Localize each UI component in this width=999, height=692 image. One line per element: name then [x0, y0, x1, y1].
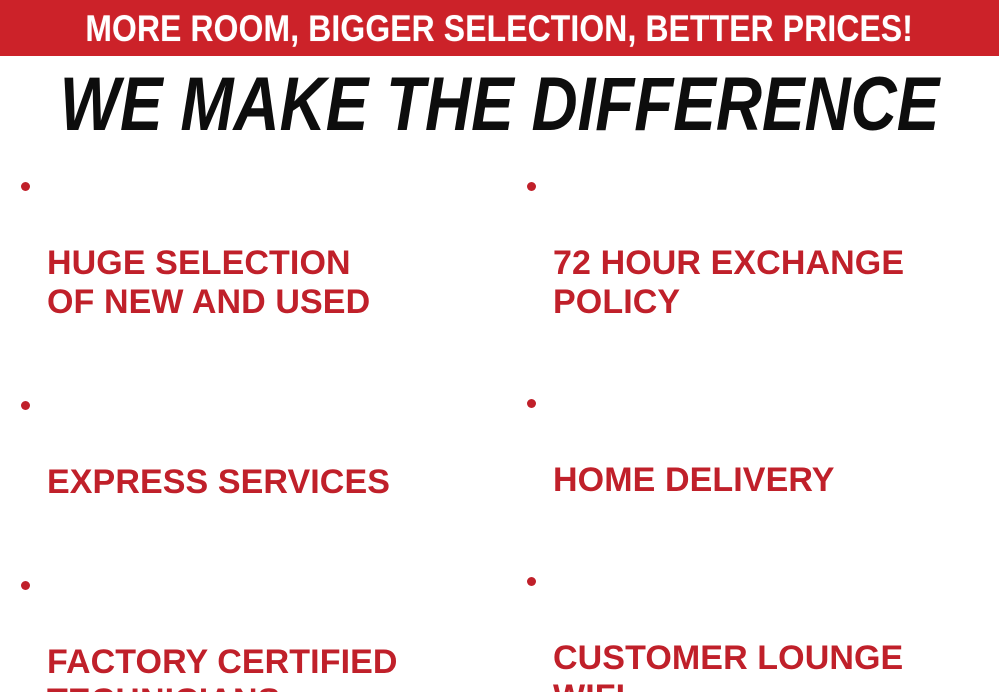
list-item-label: HUGE SELECTION OF NEW AND USED — [47, 244, 505, 322]
features-right-column: 72 HOUR EXCHANGE POLICY HOME DELIVERY CU… — [516, 156, 999, 692]
list-item: 72 HOUR EXCHANGE POLICY — [516, 166, 999, 361]
list-item: EXPRESS SERVICES — [10, 385, 505, 541]
advertisement-banner: MORE ROOM, BIGGER SELECTION, BETTER PRIC… — [0, 0, 999, 692]
list-item: HUGE SELECTION OF NEW AND USED — [10, 166, 505, 361]
bullet-dot-icon — [21, 182, 30, 191]
list-item-label: HOME DELIVERY — [553, 461, 999, 500]
headline-container: WE MAKE THE DIFFERENCE — [0, 62, 999, 148]
page-title: WE MAKE THE DIFFERENCE — [60, 67, 940, 143]
list-item: HOME DELIVERY — [516, 383, 999, 539]
bullet-dot-icon — [21, 401, 30, 410]
list-item-label: FACTORY CERTIFIED TECHNICIANS — [47, 643, 505, 692]
list-item: CUSTOMER LOUNGE WIFI — [516, 561, 999, 692]
top-promo-banner-text: MORE ROOM, BIGGER SELECTION, BETTER PRIC… — [86, 10, 914, 47]
bullet-dot-icon — [21, 581, 30, 590]
bullet-dot-icon — [527, 577, 536, 586]
features-left-column: HUGE SELECTION OF NEW AND USED EXPRESS S… — [10, 156, 505, 692]
features-columns: HUGE SELECTION OF NEW AND USED EXPRESS S… — [0, 156, 999, 692]
list-item-label: 72 HOUR EXCHANGE POLICY — [553, 244, 999, 322]
list-item: FACTORY CERTIFIED TECHNICIANS — [10, 565, 505, 692]
bullet-dot-icon — [527, 182, 536, 191]
list-item-label: EXPRESS SERVICES — [47, 463, 505, 502]
top-promo-banner: MORE ROOM, BIGGER SELECTION, BETTER PRIC… — [0, 0, 999, 56]
list-item-label: CUSTOMER LOUNGE WIFI — [553, 639, 999, 692]
bullet-dot-icon — [527, 399, 536, 408]
